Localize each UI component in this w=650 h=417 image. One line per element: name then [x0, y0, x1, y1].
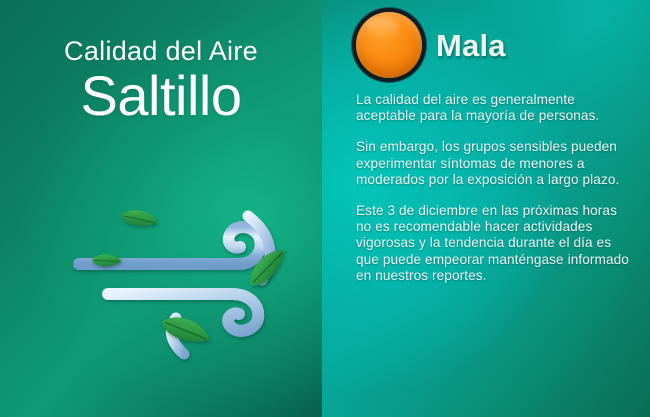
left-panel: Calidad del Aire Saltillo: [0, 0, 322, 417]
description-paragraph: La calidad del aire es generalmente acep…: [356, 92, 636, 124]
description-paragraph: Este 3 de diciembre en las próximas hora…: [356, 203, 636, 284]
air-quality-description: La calidad del aire es generalmente acep…: [356, 92, 636, 284]
title-group: Calidad del Aire Saltillo: [0, 38, 322, 126]
air-quality-level-dot-icon: [356, 12, 422, 78]
air-quality-card: Calidad del Aire Saltillo: [0, 0, 650, 417]
page-title-city: Saltillo: [0, 67, 322, 126]
wind-and-leaves-illustration: [32, 186, 294, 368]
description-paragraph: Sin embargo, los grupos sensibles pueden…: [356, 139, 636, 188]
air-quality-level-label: Mala: [436, 28, 506, 64]
page-title-kicker: Calidad del Aire: [0, 38, 322, 65]
air-quality-badge-row: Mala: [356, 12, 636, 84]
